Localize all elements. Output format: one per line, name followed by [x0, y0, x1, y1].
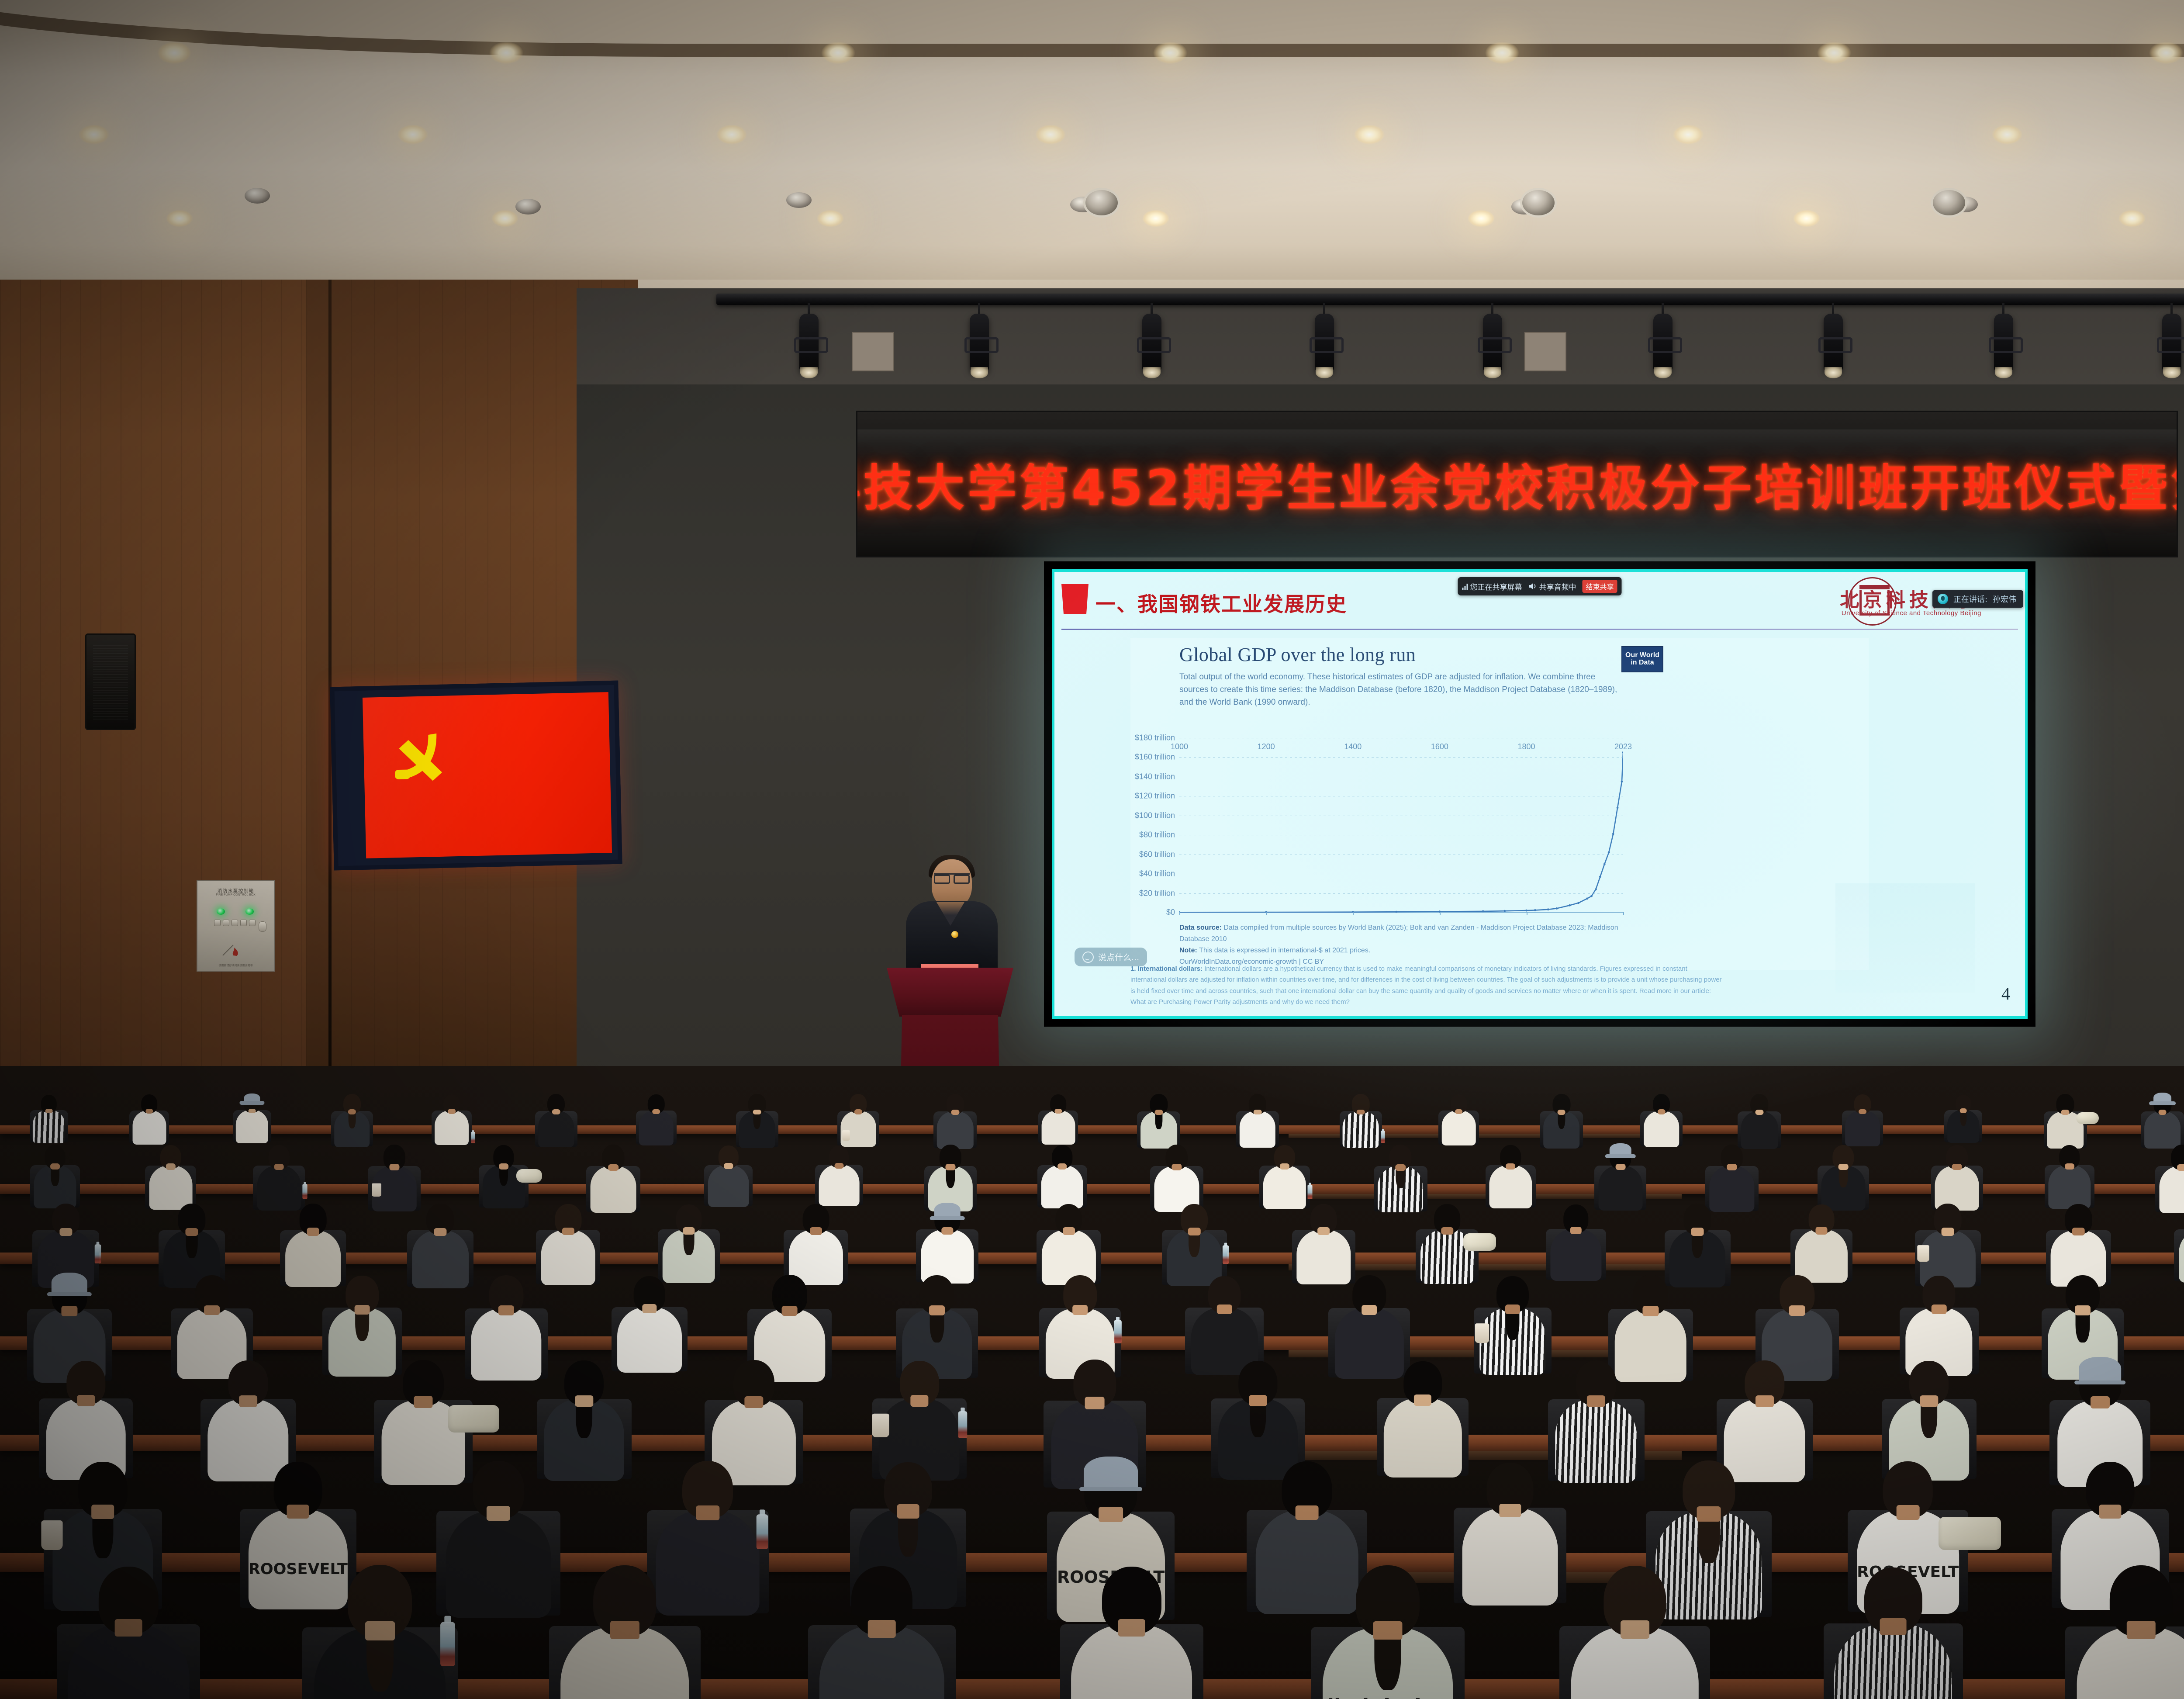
water-bottle[interactable]	[471, 1132, 475, 1143]
audience-member	[1140, 1094, 1177, 1152]
audience-member	[1598, 1145, 1642, 1215]
x-axis-tick-label: 1400	[1344, 742, 1362, 751]
spotlight-lens	[1316, 367, 1333, 378]
slide-footnote: 1. International dollars: International …	[1130, 963, 1724, 1007]
audience-neck	[1642, 1306, 1659, 1316]
audience-neck	[1657, 1109, 1665, 1114]
audience-neck	[1615, 1164, 1625, 1170]
audience-neck	[1254, 1110, 1262, 1115]
x-axis-tick-label: 1000	[1171, 742, 1188, 751]
chart-gridline	[1179, 796, 1623, 796]
audience-neck	[115, 1619, 142, 1637]
slide-header: 一、我国钢铁工业发展历史 北京科技大学 University of Scienc…	[1052, 569, 2028, 627]
audience-neck	[1697, 1506, 1721, 1522]
status-led-green-1	[217, 908, 225, 915]
folded-clothing	[1939, 1517, 2001, 1550]
audience-member	[538, 1094, 574, 1150]
shirt-graphic-text: All night long	[1312, 1696, 1464, 1699]
chart-gridline	[1179, 777, 1623, 777]
audience-member	[1240, 1094, 1275, 1151]
spotlight-yoke	[964, 337, 999, 353]
audience-neck	[92, 1505, 114, 1519]
ceiling-downlight	[1673, 125, 1704, 145]
y-axis-tick-label: $160 trillion	[1135, 753, 1175, 762]
stage-spotlight	[1142, 314, 1161, 371]
audience-torso	[1263, 1166, 1306, 1209]
audience-neck	[1063, 1227, 1075, 1235]
audience-neck	[50, 1163, 60, 1170]
audience-neck	[1816, 1227, 1828, 1234]
audience-member	[236, 1095, 268, 1146]
audience-member: All night long	[1323, 1565, 1453, 1699]
audience-neck	[753, 1110, 761, 1115]
hammer-and-sickle-icon	[390, 721, 451, 793]
spotlight-lens	[2163, 367, 2181, 378]
water-bottle[interactable]	[1381, 1131, 1385, 1143]
paper-cup[interactable]	[872, 1414, 889, 1437]
y-axis-tick-label: $100 trillion	[1135, 811, 1175, 820]
audience-torso	[1555, 1399, 1637, 1483]
audience-neck	[389, 1164, 399, 1170]
data-source-text: Data compiled from multiple sources by W…	[1179, 924, 1618, 943]
control-button-4[interactable]	[240, 920, 247, 926]
audience-neck	[1942, 1228, 1954, 1235]
ceiling-speaker	[1083, 188, 1120, 218]
ceiling-downlight	[2149, 42, 2183, 64]
university-name-en: University of Science and Technology Bei…	[1842, 609, 1981, 617]
control-button-3[interactable]	[232, 920, 238, 926]
slide-title: 一、我国钢铁工业发展历史	[1095, 588, 1347, 617]
audience-neck	[1373, 1621, 1402, 1640]
audience-torso	[538, 1111, 574, 1147]
audience-member	[1378, 1145, 1423, 1216]
audience-neck	[2126, 1621, 2155, 1639]
chart-subtitle: Total output of the world economy. These…	[1179, 671, 1621, 709]
water-bottle[interactable]	[1114, 1320, 1122, 1343]
spotlight-yoke	[2157, 337, 2184, 353]
x-axis-tick-mark	[1527, 912, 1527, 915]
audience-member	[2048, 1145, 2091, 1212]
status-led-green-2	[245, 908, 254, 915]
audience-member	[1741, 1094, 1778, 1152]
audience-neck	[448, 1109, 456, 1114]
audience-member	[819, 1145, 859, 1209]
audience-torso	[1489, 1165, 1532, 1208]
audience-member	[435, 1094, 469, 1148]
ceiling-downlight	[821, 42, 855, 64]
audience-torso	[471, 1308, 541, 1381]
audience-neck	[1057, 1163, 1067, 1170]
control-button-5[interactable]	[249, 920, 256, 926]
control-panel-footer: 使用前请仔细阅读使用说明书	[197, 963, 274, 967]
audience-member	[68, 1567, 189, 1699]
ceiling-speaker	[1931, 188, 1967, 218]
audience-member	[1263, 1145, 1306, 1213]
ac-vent	[852, 332, 894, 371]
speaking-label: 正在讲话:	[1953, 593, 1987, 605]
owid-logo-badge: Our World in Data	[1621, 646, 1663, 672]
audience-neck	[1920, 1395, 1938, 1407]
spotlight-yoke	[1818, 337, 1852, 353]
y-axis-tick-label: $20 trillion	[1139, 889, 1175, 898]
audio-status-label: 共享音频中	[1539, 581, 1576, 592]
y-axis-tick-label: $180 trillion	[1135, 734, 1175, 743]
audience-neck	[1755, 1110, 1763, 1115]
audience-neck	[1897, 1505, 1920, 1519]
audience-member	[936, 1094, 973, 1152]
audience-torso	[840, 1111, 876, 1147]
fire-warning-icon	[220, 942, 252, 957]
ceiling-downlight	[489, 42, 523, 64]
lecture-hall-photo: 北京科技大学第452期学生业余党校积极分子培训班开班仪式暨第一讲 消防水泵控制箱…	[0, 0, 2184, 1699]
audience-neck	[1188, 1228, 1200, 1235]
audience-neck	[610, 1621, 639, 1639]
audience-torso	[236, 1110, 268, 1143]
audience-neck	[910, 1395, 928, 1406]
audience-neck	[652, 1109, 660, 1114]
ceiling-downlight	[1485, 42, 1519, 64]
ceiling-downlight	[817, 210, 844, 227]
audience-torso	[412, 1230, 469, 1288]
ceiling-downlight	[491, 210, 518, 227]
glasses-icon	[934, 873, 970, 882]
folded-clothing	[516, 1169, 542, 1183]
water-bottle[interactable]	[440, 1622, 455, 1666]
audience-neck	[348, 1109, 356, 1114]
audience-neck	[1691, 1228, 1704, 1235]
y-axis-tick-label: $140 trillion	[1135, 772, 1175, 781]
slide-section-marker	[1061, 584, 1089, 614]
ceiling-downlight	[1793, 210, 1820, 227]
audience-member	[412, 1204, 469, 1293]
spotlight-lens	[1654, 367, 1672, 378]
active-speaker-indicator: 正在讲话: 孙宏伟	[1932, 590, 2023, 608]
spotlight-lens	[1825, 367, 1842, 378]
sharing-status-group: 您正在共享屏幕	[1462, 581, 1522, 592]
led-banner-text: 北京科技大学第452期学生业余党校积极分子培训班开班仪式暨第一讲	[856, 449, 2178, 519]
audience-neck	[1072, 1305, 1088, 1315]
audience-torso	[132, 1111, 166, 1145]
audience-member	[1571, 1566, 1699, 1699]
audience-neck	[1859, 1109, 1866, 1114]
audience-neck	[1217, 1305, 1232, 1314]
audience-member	[1550, 1204, 1601, 1285]
audience-torso	[1384, 1398, 1462, 1478]
audience-neck	[365, 1621, 395, 1640]
chart-gridline	[1179, 816, 1623, 816]
audience-neck	[1557, 1110, 1565, 1115]
slide-canvas: 一、我国钢铁工业发展历史 北京科技大学 University of Scienc…	[1052, 569, 2028, 1019]
x-axis-tick-mark	[1179, 912, 1180, 915]
spotlight-lens	[1995, 367, 2012, 378]
audience-member	[1543, 1094, 1580, 1151]
ceiling-downlight	[79, 125, 109, 145]
slide-page-number: 4	[2001, 983, 2010, 1004]
audience-member	[739, 1094, 775, 1151]
paper-cup[interactable]	[41, 1520, 62, 1550]
audience-member: All night long	[314, 1565, 446, 1699]
background-watermark-image	[1835, 883, 1975, 993]
lighting-truss	[716, 294, 2184, 305]
water-bottle[interactable]	[1308, 1185, 1313, 1199]
paper-cup[interactable]	[1918, 1245, 1929, 1262]
audience-neck	[1099, 1507, 1123, 1523]
chart-gridline	[1179, 757, 1623, 758]
projection-screen: 一、我国钢铁工业发展历史 北京科技大学 University of Scienc…	[1044, 561, 2035, 1027]
chart-title: Global GDP over the long run	[1179, 644, 1869, 666]
water-bottle[interactable]	[757, 1514, 768, 1549]
spotlight-yoke	[1310, 337, 1344, 353]
audience-neck	[929, 1305, 945, 1315]
comment-input[interactable]: 说点什么...	[1075, 948, 1147, 966]
water-bottle[interactable]	[1223, 1245, 1229, 1264]
audience-member	[1462, 1463, 1558, 1613]
wall-speaker-left	[85, 633, 136, 730]
audience-torso	[435, 1111, 469, 1145]
audience-neck	[1570, 1227, 1582, 1234]
y-axis-tick-label: $40 trillion	[1139, 869, 1175, 879]
audience-member	[1071, 1567, 1192, 1699]
chart-data-source: Data source: Data compiled from multiple…	[1179, 922, 1642, 945]
audience-member	[2077, 1565, 2184, 1699]
ceiling-downlight	[1817, 42, 1851, 64]
audience-torso	[33, 1110, 65, 1143]
spotlight-lens	[971, 367, 988, 378]
stage-spotlight	[1483, 314, 1502, 371]
baseball-cap	[52, 1273, 87, 1295]
sharing-status-label: 您正在共享屏幕	[1470, 581, 1522, 592]
audience-member	[2179, 1204, 2184, 1287]
audience-neck	[248, 1109, 256, 1114]
audience-neck	[1280, 1163, 1289, 1170]
audience-member	[1947, 1095, 1980, 1145]
signal-bars-icon	[1462, 583, 1468, 590]
ceiling-downlight	[1153, 42, 1187, 64]
ceiling-dome-fixture	[245, 188, 270, 204]
audience-member	[617, 1276, 682, 1377]
audience-member	[591, 1145, 636, 1217]
audience-neck	[166, 1163, 176, 1170]
owid-badge-line2: in Data	[1631, 659, 1654, 667]
audience-member	[149, 1145, 192, 1213]
audience-neck	[1455, 1109, 1463, 1114]
audience-member	[372, 1145, 417, 1215]
audience-neck	[897, 1504, 919, 1518]
baseball-cap	[2153, 1093, 2172, 1104]
control-button-1[interactable]	[214, 920, 221, 926]
audience-neck	[1118, 1619, 1145, 1637]
audience-neck	[59, 1228, 72, 1236]
audience-torso	[149, 1166, 192, 1210]
audience-neck	[2072, 1228, 2085, 1235]
audience-member	[840, 1094, 876, 1149]
fire-pump-control-panel[interactable]: 消防水泵控制箱 FIRE PUMP CONTROL BOX 使用前请仔细阅读使用…	[197, 880, 275, 972]
ceiling-speaker	[1520, 188, 1557, 218]
ceiling-downlight	[1992, 125, 2022, 145]
audience-neck	[1357, 1110, 1365, 1115]
audience-neck	[1317, 1227, 1330, 1235]
audience-neck	[2177, 1164, 2184, 1171]
audio-status-group: 共享音频中	[1528, 581, 1576, 592]
audience-neck	[287, 1505, 309, 1519]
audience-neck	[239, 1395, 257, 1407]
audience-torso	[541, 1230, 596, 1285]
audience-neck	[868, 1620, 896, 1638]
audience-neck	[1441, 1227, 1453, 1235]
audience-neck	[307, 1228, 319, 1235]
spotlight-yoke	[1478, 337, 1512, 353]
audience-neck	[1154, 1110, 1163, 1115]
audience-neck	[487, 1506, 510, 1521]
audience-neck	[2075, 1305, 2091, 1315]
audience-member	[561, 1565, 689, 1699]
audience-member	[1384, 1361, 1462, 1484]
audience-neck	[941, 1227, 953, 1235]
party-badge-pin-icon	[951, 931, 958, 938]
spotlight-lens	[1143, 367, 1161, 378]
baseball-cap	[2079, 1357, 2122, 1383]
ceiling	[0, 0, 2184, 306]
audience-torso	[1550, 1229, 1601, 1281]
audience-member	[663, 1204, 715, 1287]
audience-torso	[1041, 1165, 1083, 1208]
audience-member	[1479, 1276, 1545, 1380]
note-label: Note:	[1179, 947, 1197, 954]
x-axis-tick-label: 1600	[1431, 742, 1448, 751]
control-panel-subtitle: FIRE PUMP CONTROL BOX	[197, 893, 274, 896]
audience-member	[639, 1094, 673, 1148]
audience-neck	[608, 1164, 619, 1171]
audience-neck	[951, 1110, 959, 1115]
audience-neck	[77, 1395, 95, 1406]
audience-torso	[1441, 1111, 1476, 1145]
audience-torso	[708, 1165, 749, 1207]
audience-neck	[724, 1163, 733, 1169]
owid-chart-card: Our World in Data Global GDP over the lo…	[1130, 638, 1869, 970]
audience-neck	[696, 1505, 719, 1520]
ceiling-dome-fixture	[786, 192, 812, 208]
folded-clothing	[1463, 1233, 1496, 1251]
control-knob[interactable]	[259, 921, 266, 932]
audience-neck	[1085, 1397, 1105, 1409]
shirt-graphic-text: All night long	[304, 1697, 456, 1699]
spotlight-yoke	[1989, 337, 2023, 353]
x-axis-tick-label: 1800	[1517, 742, 1535, 751]
audience-member	[819, 1566, 944, 1699]
stage-spotlight	[1824, 314, 1843, 371]
ceiling-downlight	[2118, 210, 2146, 227]
audience-neck	[1296, 1505, 1319, 1520]
audience-neck	[1755, 1395, 1774, 1407]
chart-gridline	[1179, 835, 1623, 835]
audience-member	[1834, 1568, 1952, 1699]
speaker-audio-icon	[1528, 582, 1537, 590]
audience-neck	[1621, 1620, 1649, 1639]
x-axis-tick-label: 2023	[1614, 742, 1632, 751]
audience-neck	[1249, 1395, 1267, 1406]
ceiling-downlight	[716, 125, 747, 145]
audience-member	[471, 1275, 541, 1386]
stop-share-button[interactable]: 结束共享	[1582, 580, 1617, 593]
audience-neck	[1880, 1618, 1907, 1635]
slide-accent-right	[2025, 569, 2028, 1019]
audience-member	[1821, 1145, 1866, 1214]
audience-member	[132, 1094, 166, 1147]
audience-member	[1041, 1145, 1083, 1211]
audience-neck	[1932, 1305, 1947, 1314]
spotlight-yoke	[1137, 337, 1171, 353]
emoji-icon[interactable]	[1082, 952, 1094, 963]
screen-share-toolbar[interactable]: 您正在共享屏幕 共享音频中 结束共享	[1458, 577, 1621, 595]
ceiling-downlight	[397, 125, 428, 145]
chart-note: Note: This data is expressed in internat…	[1179, 945, 1642, 956]
audience-neck	[274, 1164, 284, 1170]
paper-cup[interactable]	[1475, 1323, 1489, 1343]
audience-neck	[810, 1227, 822, 1235]
audience-member	[1041, 1094, 1075, 1147]
ceiling-downlight	[157, 42, 191, 64]
audience-neck	[1838, 1164, 1849, 1170]
ceiling-downlight	[166, 210, 193, 227]
spotlight-lens	[1484, 367, 1501, 378]
chart-gridline	[1179, 855, 1623, 855]
chart-notes: Data source: Data compiled from multiple…	[1179, 922, 1642, 968]
spotlight-yoke	[794, 337, 828, 353]
audience-neck	[1505, 1305, 1520, 1314]
baseball-cap	[934, 1203, 961, 1219]
water-bottle[interactable]	[302, 1184, 307, 1199]
audience-neck	[61, 1306, 77, 1316]
baseball-cap	[1610, 1143, 1631, 1157]
ceiling-downlight	[1354, 125, 1385, 145]
water-bottle[interactable]	[958, 1412, 968, 1439]
audience-member	[708, 1145, 749, 1210]
audience-neck	[1054, 1109, 1062, 1114]
audience-member	[544, 1360, 624, 1487]
stage-spotlight	[1315, 314, 1334, 371]
audience-neck	[2065, 1163, 2074, 1170]
audience-neck	[1395, 1164, 1405, 1171]
audience-torso	[819, 1165, 859, 1206]
audience-torso	[446, 1511, 551, 1618]
folded-clothing	[2076, 1112, 2098, 1124]
ceiling-downlight	[1142, 210, 1169, 227]
audience-neck	[781, 1306, 798, 1316]
paper-cup[interactable]	[372, 1183, 381, 1196]
party-flag-left	[363, 692, 612, 858]
ac-vent	[1524, 332, 1566, 371]
audience-neck	[1727, 1164, 1737, 1170]
audience-neck	[642, 1304, 657, 1313]
audience-member	[33, 1095, 65, 1146]
audience-neck	[744, 1396, 763, 1408]
audience-neck	[1587, 1395, 1605, 1407]
paper-cup[interactable]	[843, 1130, 850, 1141]
audience-neck	[1500, 1504, 1521, 1517]
control-button-2[interactable]	[223, 920, 229, 926]
audience-neck	[2099, 1505, 2121, 1519]
audience-neck	[575, 1395, 593, 1407]
audience-member	[1343, 1094, 1379, 1151]
wall-left-wood	[0, 280, 332, 1158]
audience-torso	[591, 1166, 636, 1213]
stage-spotlight	[1653, 314, 1673, 371]
y-axis-tick-label: $80 trillion	[1139, 830, 1175, 840]
water-bottle[interactable]	[95, 1244, 101, 1263]
stage-spotlight	[799, 314, 819, 371]
audience-neck	[499, 1163, 508, 1170]
audience-neck	[2061, 1110, 2070, 1115]
